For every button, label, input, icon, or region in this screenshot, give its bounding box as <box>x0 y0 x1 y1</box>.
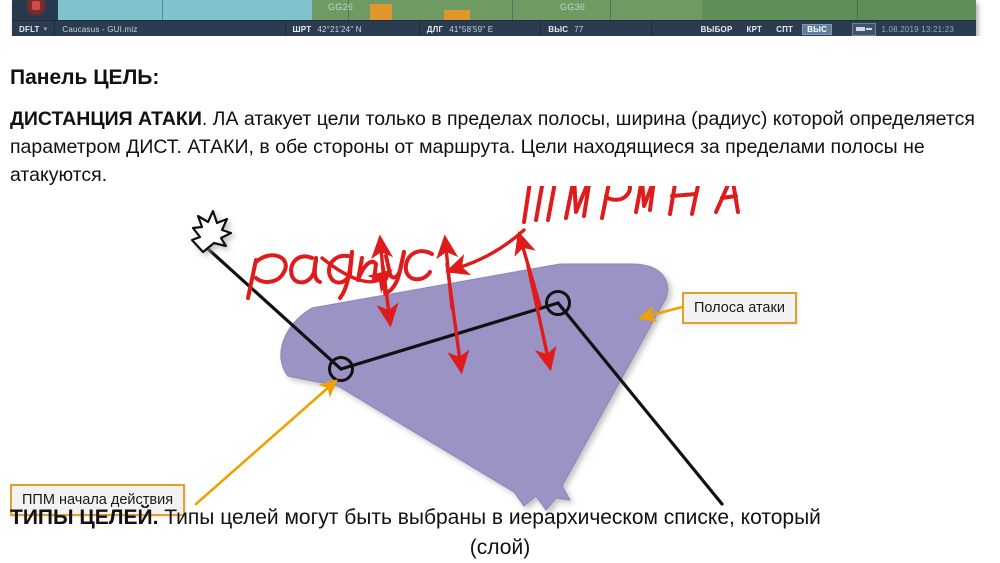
paragraph-target-types-line2: (слой) <box>10 533 990 563</box>
chevron-down-icon: ▾ <box>44 25 48 33</box>
map-coastline <box>370 4 392 20</box>
altitude-label: ВЫС <box>548 25 568 34</box>
paragraph-attack-distance: ДИСТАНЦИЯ АТАКИ. ЛА атакует цели только … <box>10 105 980 189</box>
map-coastline <box>444 10 470 20</box>
ruler-icon[interactable] <box>852 23 876 36</box>
dcs-mission-editor-strip: GG26 GG36 DFLT ▾ Caucasus - GUI.miz ШРТ … <box>12 0 976 36</box>
latitude-label: ШРТ <box>293 25 312 34</box>
map-gridline <box>512 0 513 20</box>
attack-corridor-band <box>281 264 668 510</box>
aircraft-icon <box>192 211 231 252</box>
longitude-value: 41°58'59" E <box>449 25 493 34</box>
toolbar-button-satellite[interactable]: СПТ <box>771 24 798 35</box>
mission-name-label: Caucasus - GUI.miz <box>62 25 137 34</box>
toolbar-button-select[interactable]: ВЫБОР <box>696 24 738 35</box>
longitude-label: ДЛГ <box>427 25 443 34</box>
profile-label: DFLT <box>19 25 40 34</box>
callout-attack-band: Полоса атаки <box>682 292 797 324</box>
paragraph-lead-term: ТИПЫ ЦЕЛЕЙ. <box>10 506 158 529</box>
dcs-status-bar: DFLT ▾ Caucasus - GUI.miz ШРТ 42°21'24" … <box>12 20 976 36</box>
mission-map-preview[interactable]: GG26 GG36 <box>12 0 976 20</box>
map-landmass <box>702 0 976 20</box>
latitude-value: 42°21'24" N <box>317 25 361 34</box>
profile-selector[interactable]: DFLT ▾ <box>12 21 54 36</box>
map-grid-label: GG36 <box>560 2 585 12</box>
map-gridline <box>857 0 858 20</box>
handwritten-radius-label <box>248 251 432 298</box>
toolbar-button-altitude[interactable]: ВЫС <box>802 24 832 35</box>
paragraph-lead-term: ДИСТАНЦИЯ АТАКИ <box>10 108 202 130</box>
leader-line-waypoint <box>196 386 330 504</box>
altitude-readout: ВЫС 77 <box>541 21 590 36</box>
map-gridline <box>610 0 611 20</box>
mission-timestamp: 1.08.2019 13:21:23 <box>881 21 954 36</box>
latitude-readout: ШРТ 42°21'24" N <box>286 21 369 36</box>
page-title: Панель ЦЕЛЬ: <box>10 66 159 90</box>
paragraph-target-types: ТИПЫ ЦЕЛЕЙ. Типы целей могут быть выбран… <box>10 503 990 533</box>
map-gridline <box>162 0 163 20</box>
altitude-value: 77 <box>574 25 583 34</box>
toolbar-button-map[interactable]: КРТ <box>742 24 768 35</box>
handwritten-width-label <box>524 186 738 222</box>
document-body: Панель ЦЕЛЬ: ДИСТАНЦИЯ АТАКИ. ЛА атакует… <box>0 36 1000 542</box>
mission-name[interactable]: Caucasus - GUI.miz <box>55 21 144 36</box>
longitude-readout: ДЛГ 41°58'59" E <box>420 21 500 36</box>
paragraph-text: Типы целей могут быть выбраны в иерархич… <box>158 506 820 529</box>
divider <box>651 21 652 36</box>
map-grid-label: GG26 <box>328 2 353 12</box>
